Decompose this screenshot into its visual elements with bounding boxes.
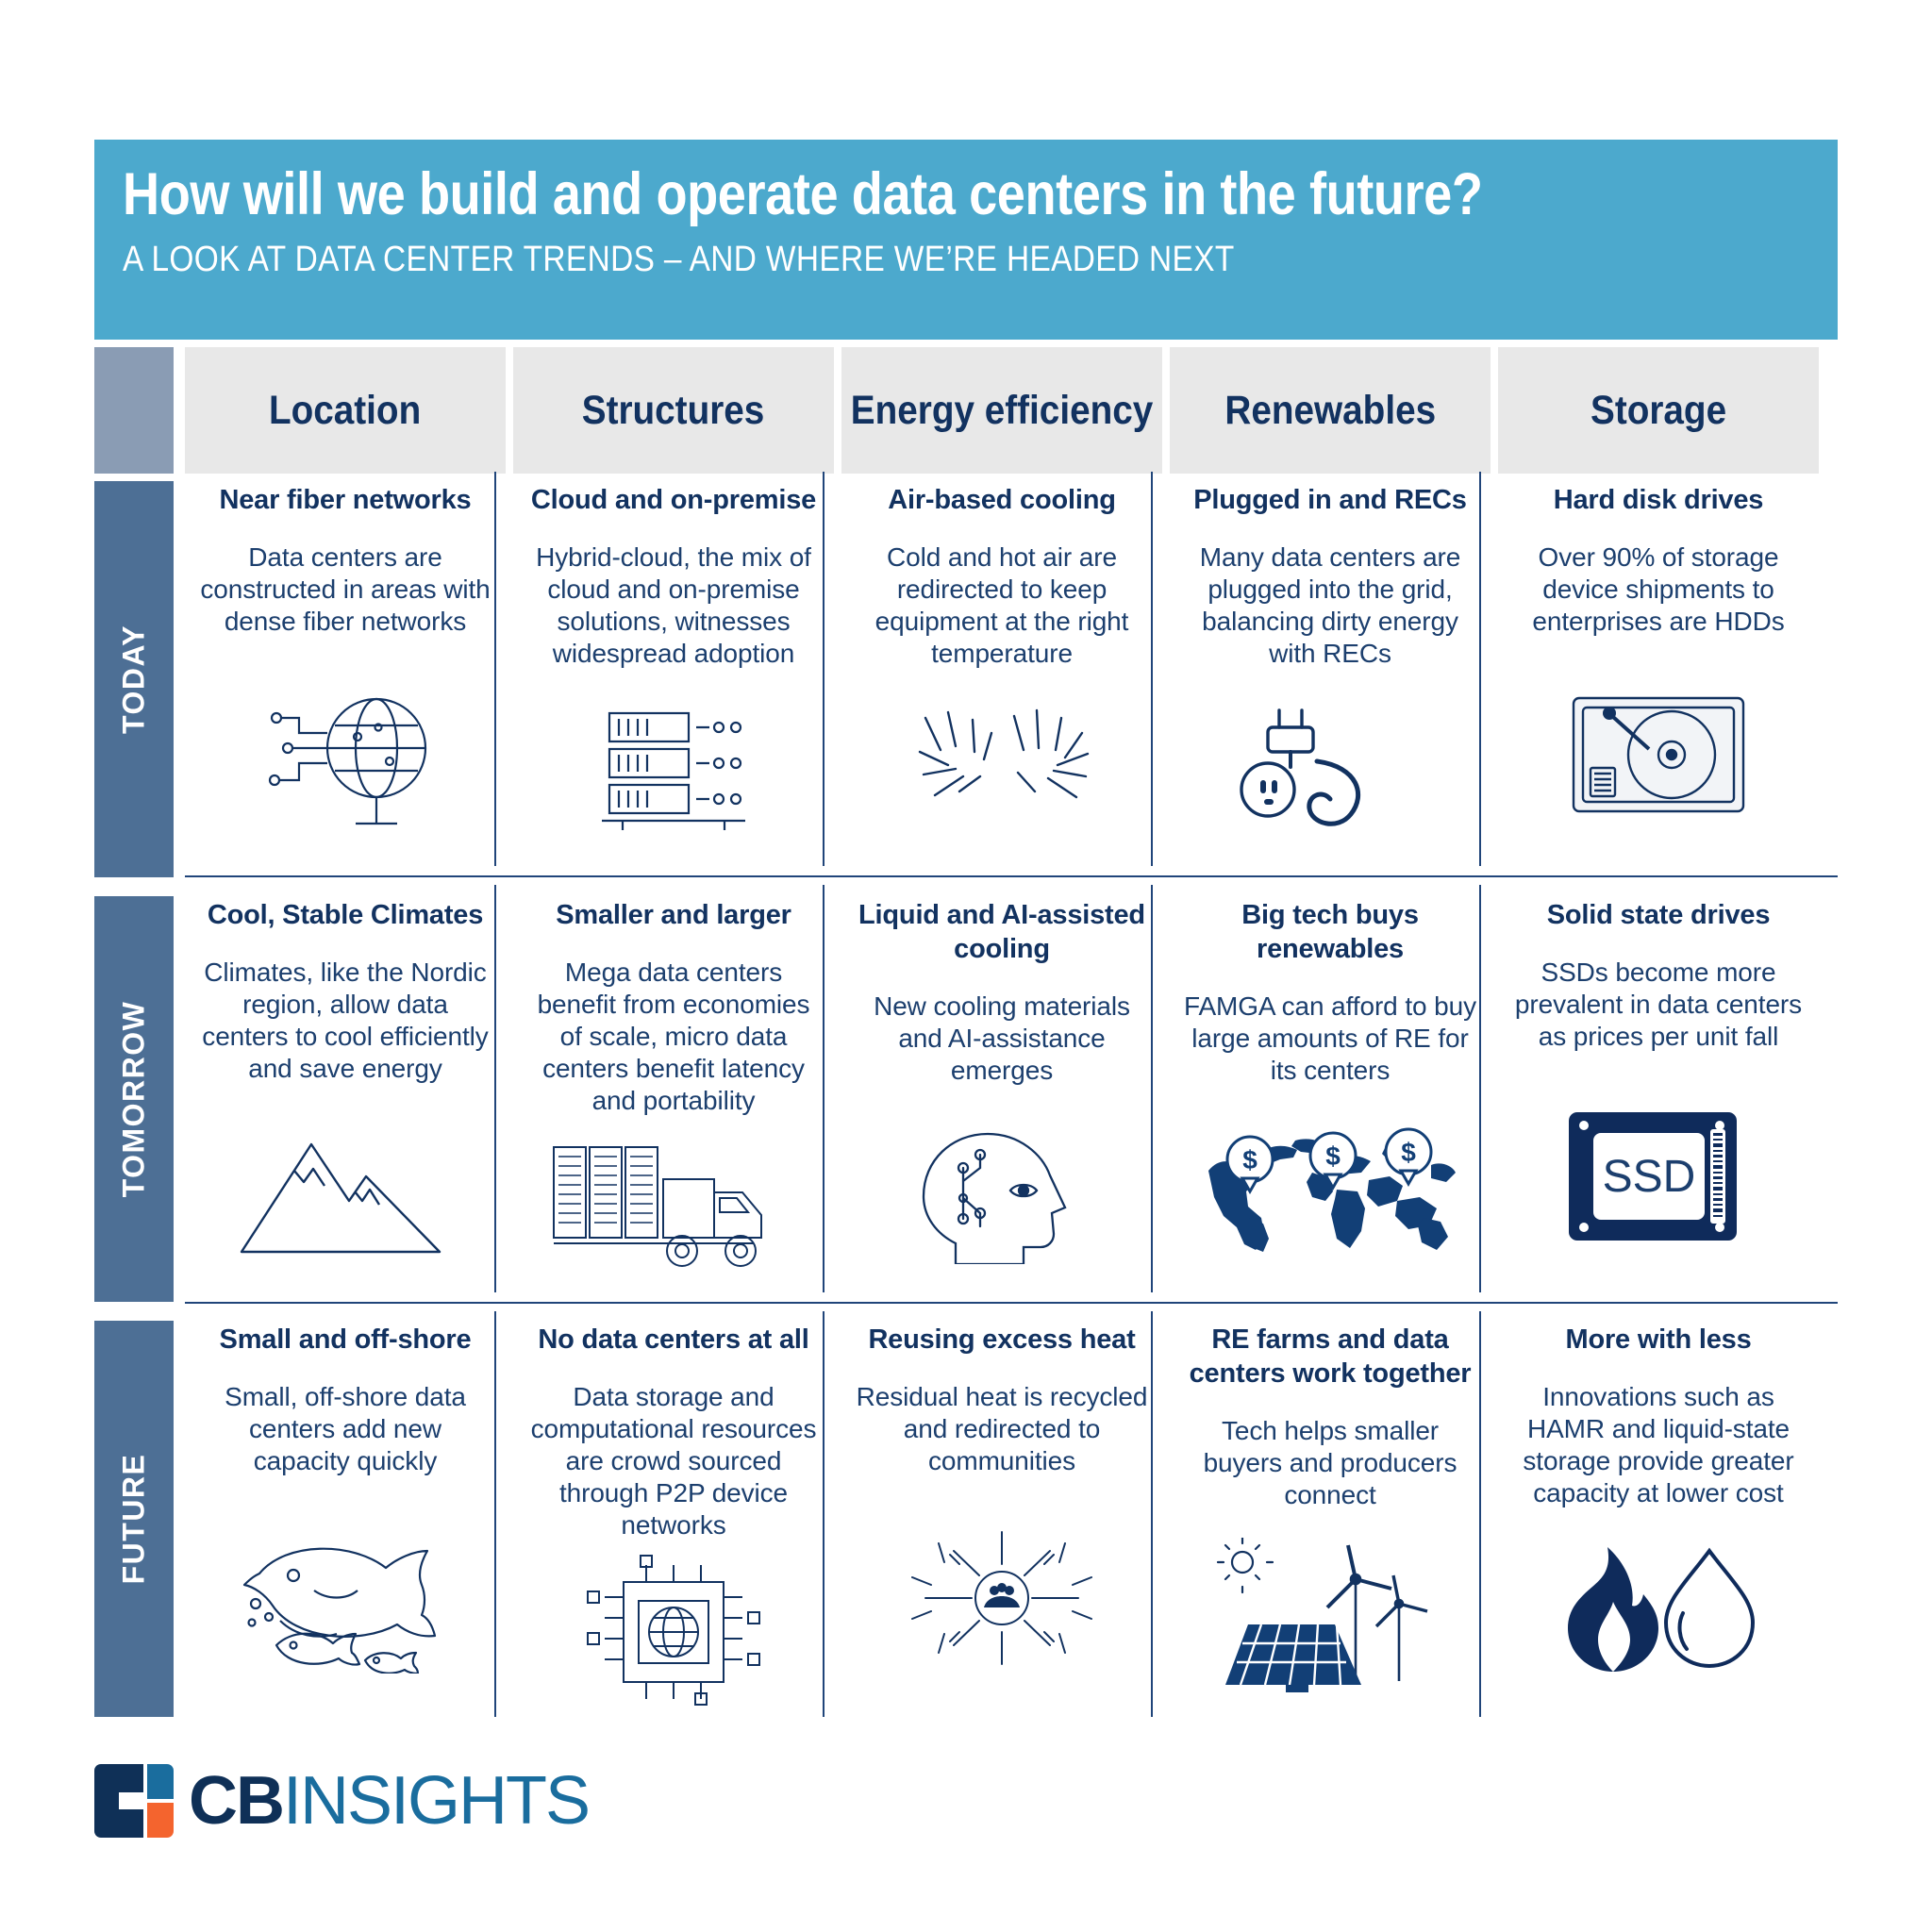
cb-insights-logo-mark (94, 1764, 174, 1838)
cell-title: Hard disk drives (1511, 483, 1806, 517)
ai-head-icon (855, 1094, 1149, 1292)
col-divider-r3-2 (823, 1311, 824, 1717)
server-rack-icon (526, 677, 821, 866)
col-divider-r1-2 (823, 472, 824, 866)
solar-wind-farm-icon (1183, 1519, 1477, 1711)
cell-today-structures: Cloud and on-premise Hybrid-cloud, the m… (526, 483, 821, 866)
cell-title: Reusing excess heat (855, 1323, 1149, 1357)
cell-tomorrow-renewables: Big tech buys renewables FAMGA can affor… (1183, 898, 1477, 1292)
fiber-globe-icon (198, 645, 492, 866)
spine-header-block (94, 347, 174, 474)
cell-body: Data storage and computational resources… (526, 1381, 821, 1541)
column-header-label: Structures (582, 388, 765, 434)
cell-future-renewables: RE farms and data centers work together … (1183, 1323, 1477, 1711)
col-divider-r2-3 (1151, 885, 1153, 1292)
cell-tomorrow-location: Cool, Stable Climates Climates, like the… (198, 898, 492, 1292)
logo-notch (119, 1792, 143, 1809)
cell-title: Solid state drives (1511, 898, 1806, 932)
cell-title: Cloud and on-premise (526, 483, 821, 517)
logo-square-blue (147, 1764, 174, 1799)
column-header-label: Location (269, 388, 421, 434)
col-divider-r2-1 (494, 885, 496, 1292)
column-header-renewables: Renewables (1170, 347, 1491, 474)
logo-square-orange (147, 1803, 174, 1838)
mountains-icon (198, 1092, 492, 1292)
flame-droplet-icon (1511, 1517, 1806, 1711)
cell-body: SSDs become more prevalent in data cente… (1511, 957, 1806, 1053)
row-label-tomorrow: TOMORROW (117, 1001, 152, 1198)
ssd-icon-label: SSD (1603, 1152, 1696, 1202)
row-divider-2 (185, 1302, 1838, 1304)
p2p-chip-globe-icon (526, 1549, 821, 1711)
row-spine-future: FUTURE (94, 1321, 174, 1717)
cell-today-storage: Hard disk drives Over 90% of storage dev… (1511, 483, 1806, 866)
cell-body: Data centers are constructed in areas wi… (198, 541, 492, 638)
row-spine-today: TODAY (94, 481, 174, 877)
cell-body: Hybrid-cloud, the mix of cloud and on-pr… (526, 541, 821, 670)
column-header-label: Renewables (1224, 388, 1436, 434)
cell-body: Small, off-shore data centers add new ca… (198, 1381, 492, 1477)
svg-text:$: $ (1325, 1141, 1341, 1171)
cell-title: Cool, Stable Climates (198, 898, 492, 932)
cell-body: FAMGA can afford to buy large amounts of… (1183, 991, 1477, 1087)
column-header-label: Storage (1591, 388, 1726, 434)
col-divider-r3-1 (494, 1311, 496, 1717)
col-divider-r1-1 (494, 472, 496, 866)
header-banner: How will we build and operate data cente… (94, 140, 1838, 340)
cell-body: Cold and hot air are redirected to keep … (855, 541, 1149, 670)
plug-outlet-icon (1183, 677, 1477, 866)
page-subtitle: A LOOK AT DATA CENTER TRENDS – AND WHERE… (123, 240, 1235, 280)
hard-disk-drive-icon (1511, 645, 1806, 866)
column-header-label: Energy efficiency (851, 388, 1153, 434)
cell-title: Smaller and larger (526, 898, 821, 932)
cell-tomorrow-structures: Smaller and larger Mega data centers ben… (526, 898, 821, 1292)
row-label-today: TODAY (117, 625, 152, 734)
cell-title: Plugged in and RECs (1183, 483, 1477, 517)
column-header-energy-efficiency: Energy efficiency (841, 347, 1162, 474)
ssd-icon: SSD (1511, 1060, 1806, 1292)
svg-text:$: $ (1242, 1145, 1257, 1174)
server-truck-icon (526, 1124, 821, 1292)
cell-title: More with less (1511, 1323, 1806, 1357)
column-header-storage: Storage (1498, 347, 1819, 474)
cell-title: Near fiber networks (198, 483, 492, 517)
cell-tomorrow-storage: Solid state drives SSDs become more prev… (1511, 898, 1806, 1292)
cell-body: Tech helps smaller buyers and producers … (1183, 1415, 1477, 1511)
cell-future-storage: More with less Innovations such as HAMR … (1511, 1323, 1806, 1711)
col-divider-r1-3 (1151, 472, 1153, 866)
cell-body: New cooling materials and AI-assistance … (855, 991, 1149, 1087)
column-header-structures: Structures (513, 347, 834, 474)
cell-body: Residual heat is recycled and redirected… (855, 1381, 1149, 1477)
cell-title: Liquid and AI-assisted cooling (855, 898, 1149, 966)
cell-body: Climates, like the Nordic region, allow … (198, 957, 492, 1085)
svg-text:$: $ (1401, 1138, 1416, 1167)
cell-title: No data centers at all (526, 1323, 821, 1357)
row-divider-1 (185, 875, 1838, 877)
page-title: How will we build and operate data cente… (123, 160, 1483, 228)
cell-body: Over 90% of storage device shipments to … (1511, 541, 1806, 638)
cell-today-location: Near fiber networks Data centers are con… (198, 483, 492, 866)
cell-tomorrow-energy: Liquid and AI-assisted cooling New cooli… (855, 898, 1149, 1292)
fish-icon (198, 1485, 492, 1711)
heat-radiate-community-icon (855, 1485, 1149, 1711)
col-divider-r3-3 (1151, 1311, 1153, 1717)
logo-text-insights: INSIGHTS (283, 1767, 589, 1835)
cell-future-location: Small and off-shore Small, off-shore dat… (198, 1323, 492, 1711)
world-map-dollar-icon: $$$ (1183, 1094, 1477, 1292)
cell-body: Many data centers are plugged into the g… (1183, 541, 1477, 670)
col-divider-r2-2 (823, 885, 824, 1292)
cell-body: Mega data centers benefit from economies… (526, 957, 821, 1117)
cell-today-renewables: Plugged in and RECs Many data centers ar… (1183, 483, 1477, 866)
air-flow-icon (855, 677, 1149, 866)
cell-title: Air-based cooling (855, 483, 1149, 517)
cell-future-structures: No data centers at all Data storage and … (526, 1323, 821, 1711)
row-spine-tomorrow: TOMORROW (94, 896, 174, 1302)
col-divider-r2-4 (1479, 885, 1481, 1292)
logo-text-cb: CB (189, 1767, 283, 1835)
col-divider-r1-4 (1479, 472, 1481, 866)
cell-title: Big tech buys renewables (1183, 898, 1477, 966)
column-header-location: Location (185, 347, 506, 474)
infographic-page: How will we build and operate data cente… (0, 0, 1932, 1932)
cell-title: Small and off-shore (198, 1323, 492, 1357)
cb-insights-logo: CB INSIGHTS (94, 1760, 589, 1841)
cell-today-energy: Air-based cooling Cold and hot air are r… (855, 483, 1149, 866)
cell-body: Innovations such as HAMR and liquid-stat… (1511, 1381, 1806, 1509)
cell-title: RE farms and data centers work together (1183, 1323, 1477, 1391)
col-divider-r3-4 (1479, 1311, 1481, 1717)
row-label-future: FUTURE (117, 1454, 152, 1585)
cell-future-energy: Reusing excess heat Residual heat is rec… (855, 1323, 1149, 1711)
